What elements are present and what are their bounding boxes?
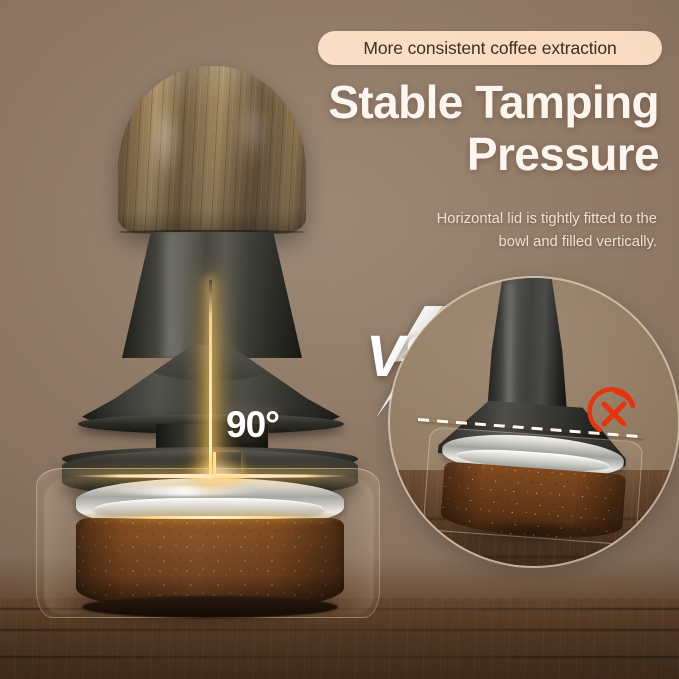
subtitle-line-1: Horizontal lid is tightly fitted to the: [357, 208, 657, 231]
product-image-canvas: 90° VS: [0, 0, 679, 679]
angle-label: 90°: [226, 406, 279, 443]
headline-line-1: Stable Tamping: [239, 76, 659, 128]
status-badge: More consistent coffee extraction: [318, 31, 662, 65]
horizontal-light-line-lower: [86, 516, 336, 519]
page-subtitle: Horizontal lid is tightly fitted to the …: [357, 208, 657, 254]
status-badge-label: More consistent coffee extraction: [363, 38, 616, 59]
comparison-inset-circle: [389, 277, 679, 567]
vertical-light-beam-icon: [209, 280, 212, 480]
coffee-puck-base: [82, 596, 338, 618]
headline-line-2: Pressure: [239, 128, 659, 180]
subtitle-line-2: bowl and filled vertically.: [357, 231, 657, 254]
circle-x-icon: [586, 386, 642, 442]
page-title: Stable Tamping Pressure: [239, 76, 659, 181]
right-angle-icon: [213, 452, 241, 478]
